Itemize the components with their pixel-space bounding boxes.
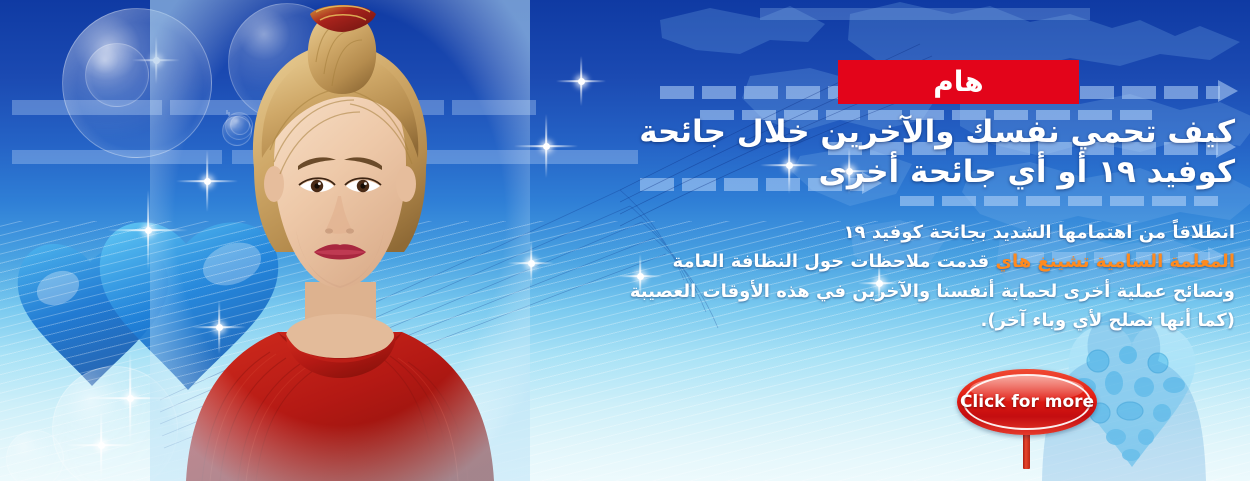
headline: كيف تحمي نفسك والآخرين خلال جائحة كوفيد …: [621, 112, 1235, 193]
body-line-1: انطلاقاً من اهتمامها الشديد بجائحة كوفيد…: [621, 218, 1235, 247]
sparkle-star: [556, 56, 606, 106]
headline-line-1: كيف تحمي نفسك والآخرين خلال جائحة: [639, 114, 1235, 150]
bubble: [85, 43, 149, 107]
light-bar: [12, 100, 162, 115]
speaker-name-highlight: المعلمة السامية تشينغ هاي: [995, 251, 1235, 272]
body-copy: انطلاقاً من اهتمامها الشديد بجائحة كوفيد…: [621, 218, 1235, 335]
covid-awareness-banner: هام كيف تحمي نفسك والآخرين خلال جائحة كو…: [0, 0, 1250, 481]
speaker-portrait: [150, 0, 530, 481]
body-line-2: المعلمة السامية تشينغ هاي قدمت ملاحظات ح…: [621, 247, 1235, 276]
headline-line-2: كوفيد ١٩ أو أي جائحة أخرى: [621, 152, 1235, 192]
body-line-2-rest: قدمت ملاحظات حول النظافة العامة: [673, 251, 996, 272]
click-for-more-button[interactable]: Click for more: [957, 369, 1097, 435]
call-to-action[interactable]: Click for more: [957, 369, 1097, 469]
bubble: [6, 430, 64, 481]
body-line-3: ونصائح عملية أخرى لحماية أنفسنا والآخرين…: [621, 277, 1235, 306]
text-content: كيف تحمي نفسك والآخرين خلال جائحة كوفيد …: [616, 0, 1236, 481]
sparkle-star: [66, 410, 136, 480]
body-line-4: (كما أنها تصلح لأي وباء آخر).: [621, 306, 1235, 335]
cta-label: Click for more: [960, 392, 1094, 412]
